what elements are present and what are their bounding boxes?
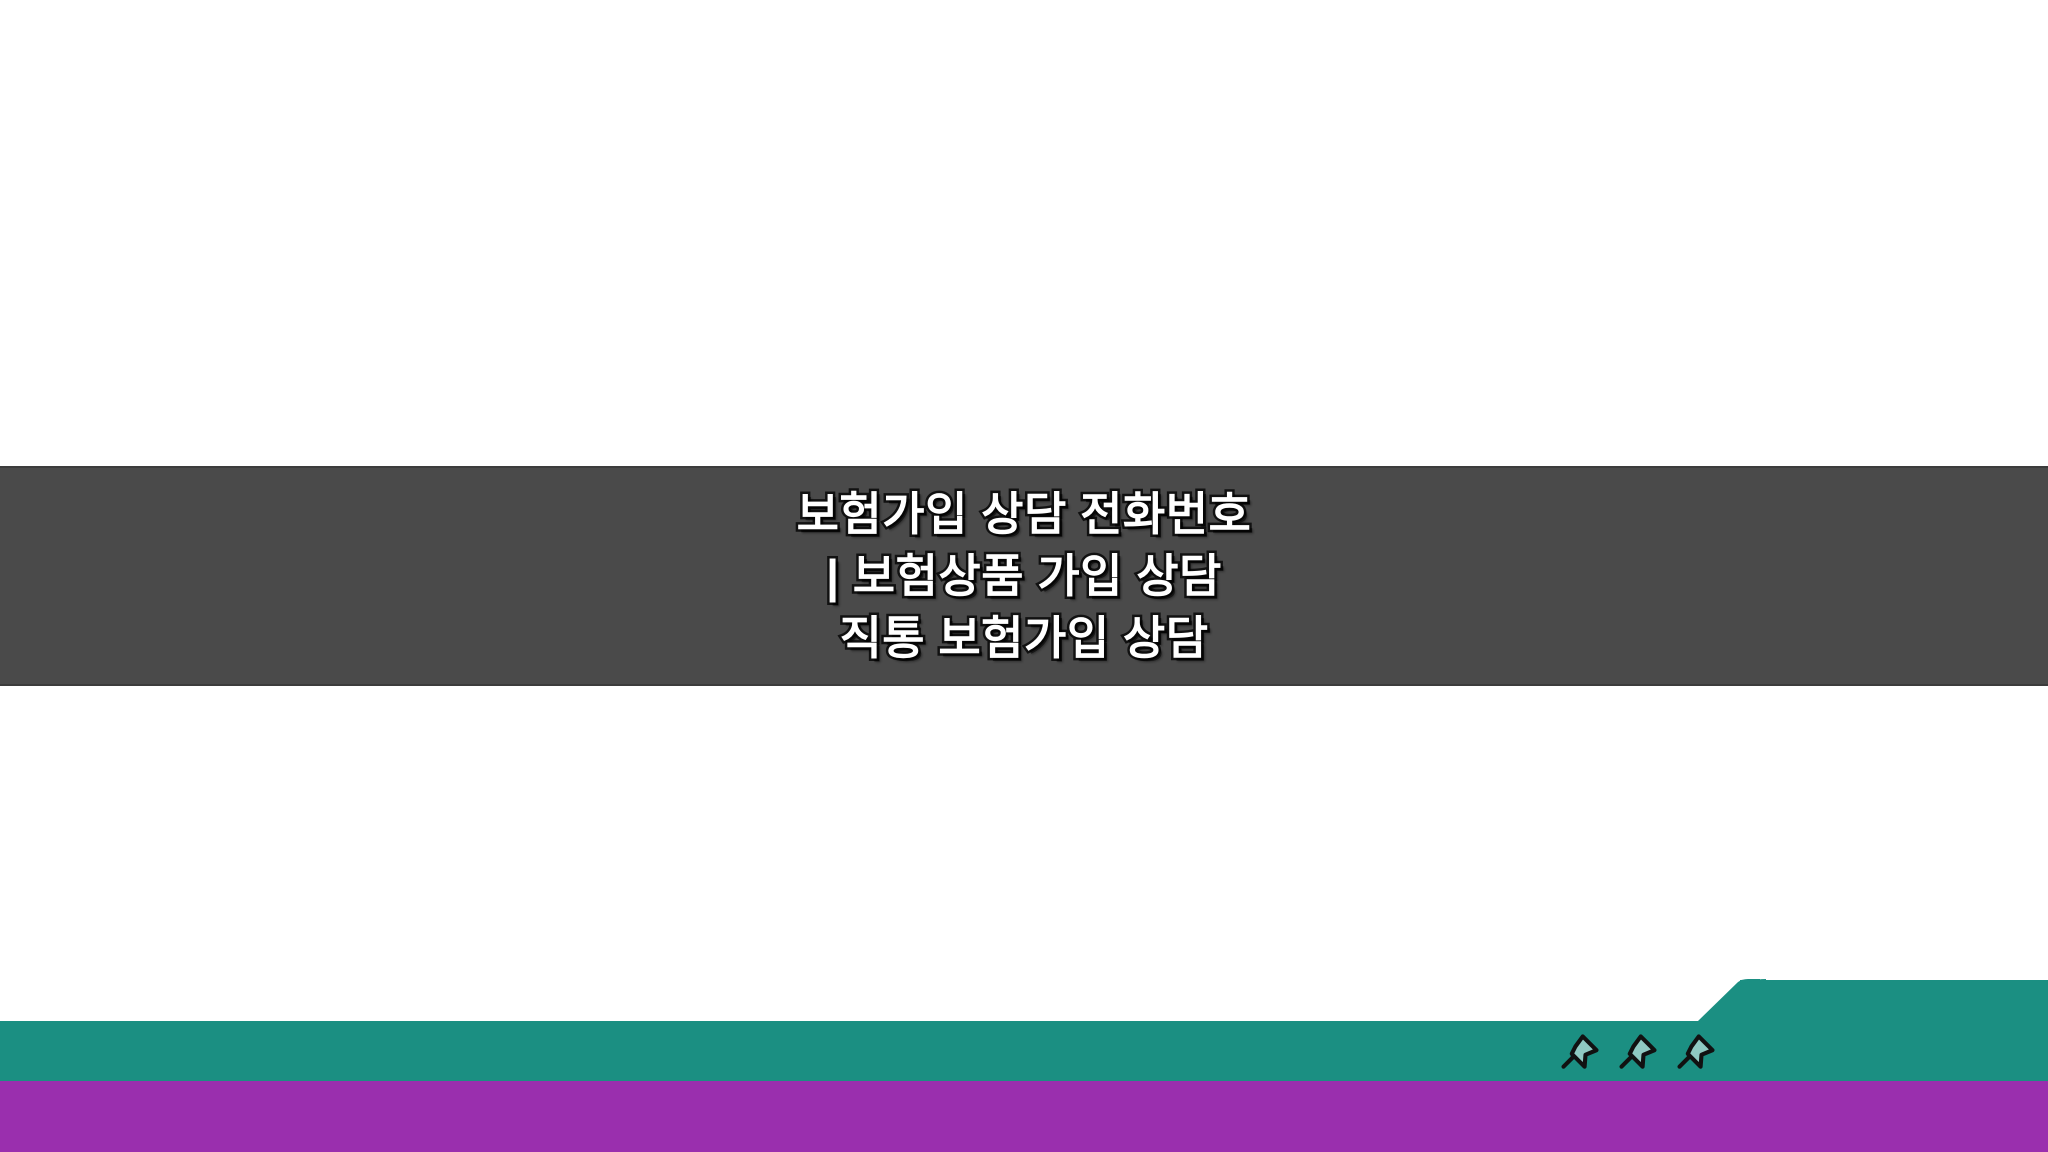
teal-band-right-block: [1746, 980, 2048, 1081]
pin-icon-row: [1558, 1026, 1718, 1078]
pin-icon: [1558, 1030, 1602, 1074]
title-line-1: 보험가입 상담 전화번호: [797, 483, 1252, 545]
footer-decoration: [0, 960, 2048, 1152]
pin-icon: [1674, 1030, 1718, 1074]
pin-icon: [1616, 1030, 1660, 1074]
title-line-3: 직통 보험가입 상담: [839, 607, 1208, 669]
title-line-2: | 보험상품 가입 상담: [826, 545, 1222, 607]
title-band: 보험가입 상담 전화번호 | 보험상품 가입 상담 직통 보험가입 상담: [0, 466, 2048, 686]
banner-canvas: 보험가입 상담 전화번호 | 보험상품 가입 상담 직통 보험가입 상담: [0, 0, 2048, 1152]
purple-band-shape: [0, 1081, 2048, 1152]
